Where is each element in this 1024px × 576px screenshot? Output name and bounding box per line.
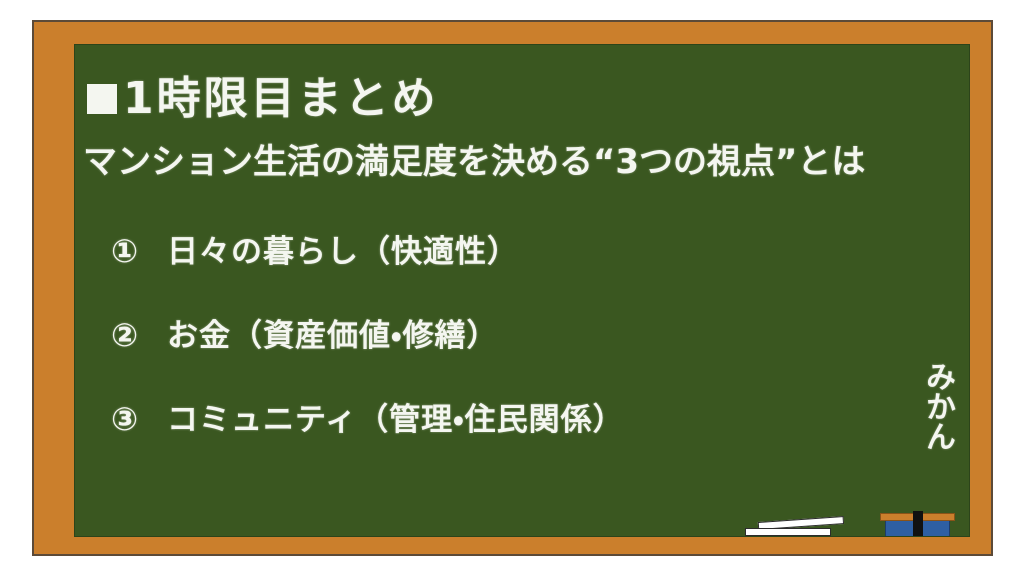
- summary-points-list: ① 日々の暮らし（快適性） ② お金（資産価値・修繕） ③ コミュニティ（管理・…: [111, 231, 911, 483]
- slide-canvas: 1時限目まとめ マンション生活の満足度を決める“3つの視点”とは ① 日々の暮ら…: [0, 0, 1024, 576]
- list-label-3: コミュニティ（管理・住民関係）: [167, 401, 625, 440]
- filled-square-bullet-icon: [87, 84, 117, 114]
- list-marker-1: ①: [111, 231, 167, 271]
- list-marker-2: ②: [111, 315, 167, 355]
- list-label-1: 日々の暮らし（快適性）: [167, 233, 519, 272]
- blackboard-eraser-icon: [880, 511, 955, 537]
- list-label-2: お金（資産価値・修繕）: [167, 317, 499, 356]
- chalk-stick-icon: [745, 528, 831, 536]
- list-marker-3: ③: [111, 399, 167, 439]
- list-item: ② お金（資産価値・修繕）: [111, 315, 911, 359]
- eraser-strap: [913, 511, 923, 537]
- blackboard-surface: 1時限目まとめ マンション生活の満足度を決める“3つの視点”とは ① 日々の暮ら…: [74, 44, 970, 537]
- page-title: 1時限目まとめ: [87, 77, 439, 121]
- list-item: ① 日々の暮らし（快適性）: [111, 231, 911, 275]
- list-item: ③ コミュニティ（管理・住民関係）: [111, 399, 911, 443]
- author-signature: みかん: [918, 361, 955, 451]
- subtitle-text: マンション生活の満足度を決める“3つの視点”とは: [83, 145, 865, 179]
- blackboard-chalk-ledge: [32, 537, 993, 556]
- page-title-text: 1時限目まとめ: [123, 77, 439, 121]
